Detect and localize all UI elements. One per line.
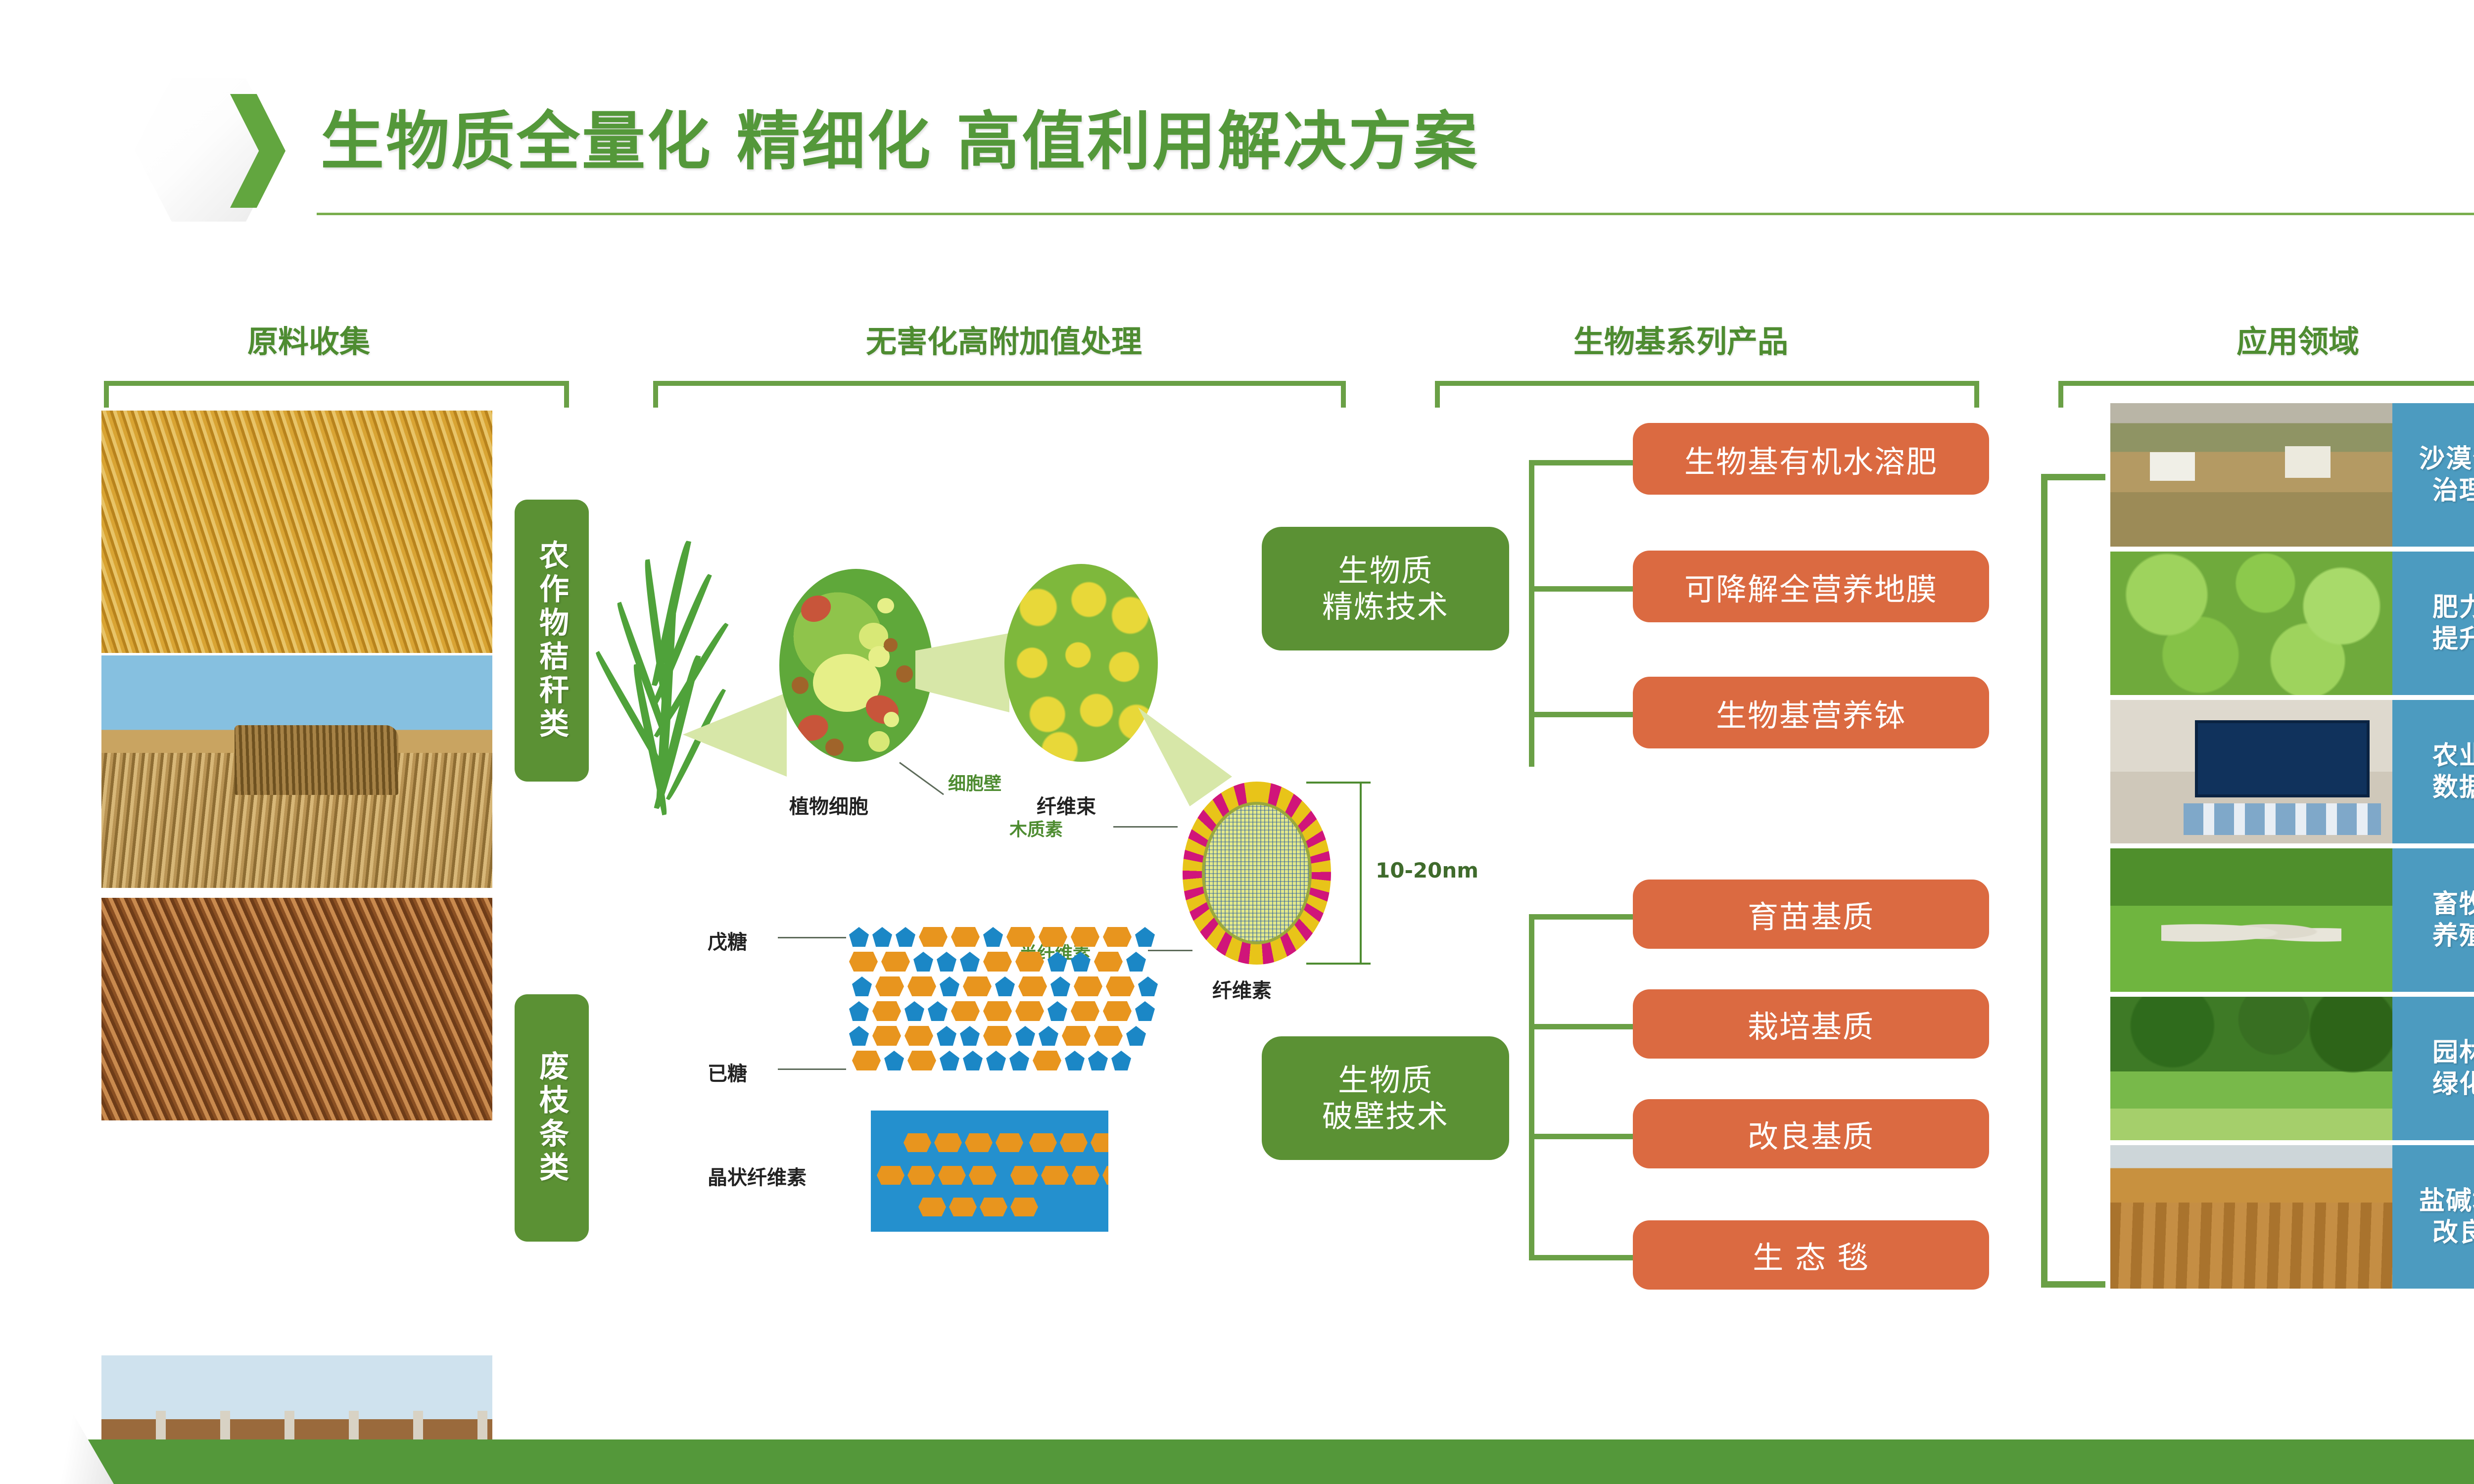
section-header-applications: 应用领域 (2236, 317, 2359, 361)
label-crystalline-cellulose: 晶状纤维素 (708, 1161, 807, 1190)
application-label-landscaping-line1: 园林 (2432, 1037, 2474, 1068)
application-label-livestock: 畜牧 养殖 (2392, 848, 2474, 992)
application-image-garden (2110, 997, 2392, 1140)
application-label-desertification-line2: 治理 (2432, 475, 2474, 507)
product-box-biodegradable-mulch-film[interactable]: 可降解全营养地膜 (1633, 551, 1989, 622)
tech-box-cellwall-breaking[interactable]: 生物质 破壁技术 (1262, 1036, 1509, 1160)
leader-line-cellwall (899, 762, 944, 795)
leader-line-pentose (778, 937, 846, 938)
connector-branch-refining-2 (1529, 586, 1643, 592)
label-dimension: 10-20nm (1376, 858, 1478, 882)
product-box-cultivation-substrate[interactable]: 栽培基质 (1633, 989, 1989, 1059)
tech-box-refining[interactable]: 生物质 精炼技术 (1262, 527, 1509, 650)
sugar-chain-diagram: 戊糖 已糖 晶状纤维素 (708, 915, 1227, 1232)
product-box-water-soluble-fertilizer[interactable]: 生物基有机水溶肥 (1633, 423, 1989, 495)
application-label-saline-alkali: 盐碱地 改良 (2392, 1145, 2474, 1289)
section-header-processing: 无害化高附加值处理 (866, 317, 1142, 361)
application-label-agri-data-line2: 数据 (2432, 772, 2474, 803)
leader-line-lignin (1113, 826, 1178, 828)
application-row-saline-alkali[interactable]: 盐碱地 改良 (2110, 1145, 2474, 1289)
application-image-saline-land (2110, 1145, 2392, 1289)
application-label-livestock-line2: 养殖 (2432, 920, 2474, 952)
crystalline-cellulose-illustration (871, 1111, 1108, 1232)
fiber-bundle-illustration (1004, 564, 1158, 762)
page-title: 生物质全量化 精细化 高值利用解决方案 (321, 90, 1479, 182)
product-box-nutrient-pot[interactable]: 生物基营养钵 (1633, 677, 1989, 748)
section-header-products: 生物基系列产品 (1573, 317, 1788, 361)
application-label-fertility-line1: 肥力 (2432, 592, 2474, 623)
bracket-materials (104, 381, 569, 408)
section-header-materials: 原料收集 (247, 317, 370, 361)
title-divider (317, 213, 2474, 215)
photo-corn-straw (101, 411, 492, 653)
bracket-products (1435, 381, 1979, 408)
application-image-data-center (2110, 700, 2392, 843)
photo-branches (101, 898, 492, 1120)
application-row-desertification[interactable]: 沙漠化 治理 (2110, 403, 2474, 547)
tech-box-refining-line1: 生物质 (1338, 553, 1433, 589)
bracket-applications-group (2041, 474, 2105, 1288)
application-label-saline-alkali-line2: 改良 (2432, 1217, 2474, 1249)
application-row-landscaping[interactable]: 园林 绿化 (2110, 997, 2474, 1140)
plant-cell-illustration (779, 569, 933, 762)
dimension-cap-top (1306, 782, 1371, 784)
application-image-sheep (2110, 848, 2392, 992)
application-label-fertility: 肥力 提升 (2392, 552, 2474, 695)
photo-straw-bale (101, 655, 492, 888)
magnify-cone-3 (1138, 707, 1232, 806)
label-cell-wall: 细胞壁 (948, 769, 1001, 795)
tech-box-refining-line2: 精炼技术 (1322, 589, 1449, 625)
tech-box-cellwall-line1: 生物质 (1338, 1062, 1433, 1098)
footer-wedge-decoration (0, 1370, 114, 1484)
connector-stem-refining (1529, 460, 1534, 767)
connector-branch-cellwall-3 (1529, 1134, 1643, 1139)
label-lignin: 木质素 (1009, 815, 1063, 841)
plant-silhouette-icon (614, 539, 737, 816)
application-image-cabbage (2110, 552, 2392, 695)
application-label-agri-data: 农业 数据 (2392, 700, 2474, 843)
connector-stem-cellwall (1529, 914, 1534, 1260)
application-label-saline-alkali-line1: 盐碱地 (2419, 1185, 2474, 1217)
leader-line-hexose (778, 1068, 846, 1070)
application-label-desertification: 沙漠化 治理 (2392, 403, 2474, 547)
application-row-livestock[interactable]: 畜牧 养殖 (2110, 848, 2474, 992)
product-box-ecological-blanket[interactable]: 生 态 毯 (1633, 1220, 1989, 1290)
footer-bar (0, 1439, 2474, 1484)
label-hexose: 已糖 (708, 1058, 747, 1086)
connector-branch-cellwall-2 (1529, 1024, 1643, 1029)
application-row-fertility[interactable]: 肥力 提升 (2110, 552, 2474, 695)
application-label-fertility-line2: 提升 (2432, 623, 2474, 655)
application-label-landscaping-line2: 绿化 (2432, 1068, 2474, 1100)
product-box-seedling-substrate[interactable]: 育苗基质 (1633, 880, 1989, 949)
dimension-bar (1360, 782, 1362, 965)
connector-branch-refining-3 (1529, 712, 1643, 717)
tech-box-cellwall-line2: 破壁技术 (1322, 1098, 1449, 1134)
application-label-landscaping: 园林 绿化 (2392, 997, 2474, 1140)
connector-branch-cellwall-4 (1529, 1255, 1643, 1260)
product-box-improvement-substrate[interactable]: 改良基质 (1633, 1099, 1989, 1168)
category-pill-waste-branch: 废枝条类 (515, 994, 589, 1242)
application-label-livestock-line1: 畜牧 (2432, 888, 2474, 920)
connector-branch-refining-1 (1529, 460, 1643, 465)
category-pill-crop-straw: 农作物秸秆类 (515, 500, 589, 782)
label-plant-cell: 植物细胞 (789, 790, 868, 819)
application-label-desertification-line1: 沙漠化 (2419, 443, 2474, 475)
bracket-processing (653, 381, 1346, 408)
label-pentose: 戊糖 (708, 926, 747, 955)
application-row-agri-data[interactable]: 农业 数据 (2110, 700, 2474, 843)
application-image-desert (2110, 403, 2392, 547)
connector-branch-cellwall-1 (1529, 914, 1643, 920)
dimension-cap-bottom (1306, 963, 1371, 965)
application-label-agri-data-line1: 农业 (2432, 740, 2474, 772)
title-bar: 生物质全量化 精细化 高值利用解决方案 (0, 0, 2474, 247)
